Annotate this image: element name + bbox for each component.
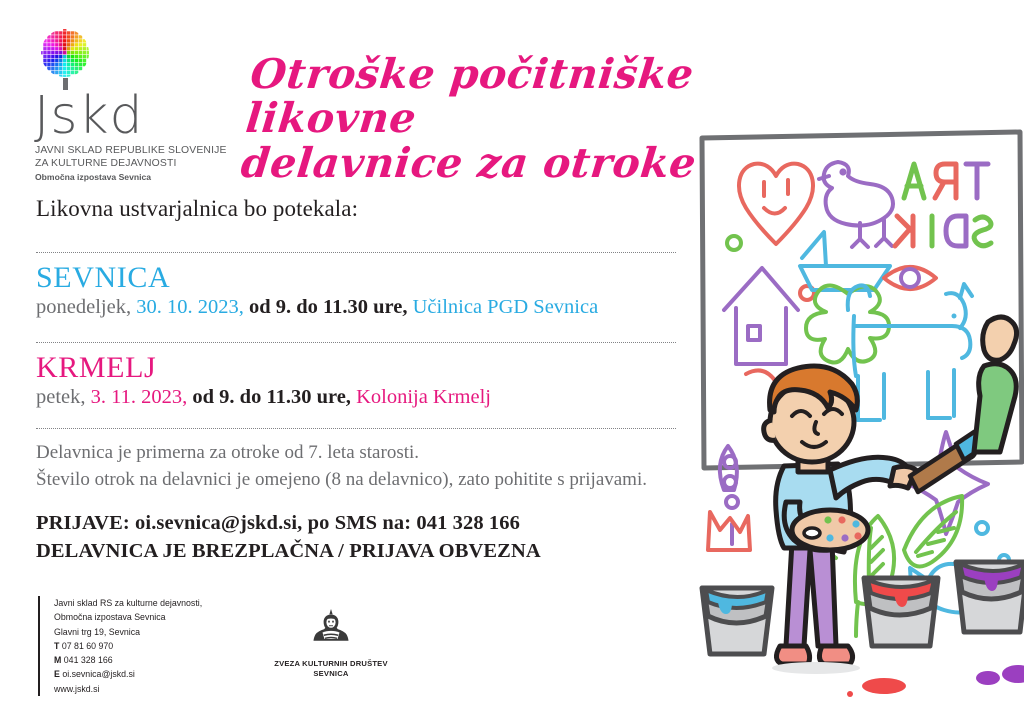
footer-unit: Območna izpostava Sevnica	[54, 610, 202, 624]
event-block-sevnica: SEVNICA ponedeljek, 30. 10. 2023, od 9. …	[36, 262, 598, 320]
poster-root: Jskd JAVNI SKLAD REPUBLIKE SLOVENIJE ZA …	[0, 0, 1024, 722]
notes-text: Delavnica je primerna za otroke od 7. le…	[36, 440, 696, 494]
event-day-sevnica: ponedeljek,	[36, 296, 131, 318]
divider-top	[36, 252, 676, 253]
footer-mobile: 041 328 166	[64, 655, 113, 665]
footer-mobile-row: M 041 328 166	[54, 653, 202, 667]
footer-phone: 07 81 60 970	[62, 641, 113, 651]
illustration-art-kids	[688, 110, 1024, 710]
logo-stem	[63, 78, 68, 90]
zkd-logo: ZVEZA KULTURNIH DRUŠTEV SEVNICA	[268, 606, 394, 680]
jskd-subtitle-line2: ZA KULTURNE DEJAVNOSTI	[35, 158, 176, 169]
cta-line-registrations: PRIJAVE: oi.sevnica@jskd.si, po SMS na: …	[36, 510, 541, 538]
footer-email[interactable]: oi.sevnica@jskd.si	[62, 669, 135, 679]
divider-middle	[36, 342, 676, 343]
intro-text: Likovna ustvarjalnica bo potekala:	[36, 196, 358, 222]
paint-bucket-purple	[956, 562, 1024, 685]
event-time-krmelj: od 9. do 11.30 ure,	[192, 386, 351, 408]
event-time-sevnica: od 9. do 11.30 ure,	[249, 296, 408, 318]
zkd-caption-line1: ZVEZA KULTURNIH DRUŠTEV	[274, 659, 387, 668]
event-details-sevnica: ponedeljek, 30. 10. 2023, od 9. do 11.30…	[36, 295, 598, 321]
note-line-1: Delavnica je primerna za otroke od 7. le…	[36, 440, 696, 467]
divider-bottom	[36, 428, 676, 429]
event-venue-sevnica: Učilnica PGD Sevnica	[413, 296, 599, 318]
cta-text: PRIJAVE: oi.sevnica@jskd.si, po SMS na: …	[36, 510, 541, 565]
zkd-caption-line2: SEVNICA	[313, 669, 348, 678]
footer-phone-label: T	[54, 641, 59, 651]
event-date-sevnica: 30. 10. 2023,	[136, 296, 244, 318]
title-line-1: Otroške počitniške likovne	[243, 50, 696, 142]
event-day-krmelj: petek,	[36, 386, 86, 408]
event-block-krmelj: KRMELJ petek, 3. 11. 2023, od 9. do 11.3…	[36, 352, 491, 410]
jskd-wordmark: Jskd	[34, 92, 233, 141]
event-city-krmelj: KRMELJ	[36, 352, 491, 384]
paint-bucket-red	[847, 578, 938, 697]
footer-address: Glavni trg 19, Sevnica	[54, 625, 202, 639]
zkd-bust-icon	[308, 639, 354, 656]
footer-org: Javni sklad RS za kulturne dejavnosti,	[54, 596, 202, 610]
paint-bucket-blue	[702, 588, 772, 654]
event-date-krmelj: 3. 11. 2023,	[91, 386, 188, 408]
footer-email-label: E	[54, 669, 60, 679]
event-venue-krmelj: Kolonija Krmelj	[356, 386, 491, 408]
footer-contact: Javni sklad RS za kulturne dejavnosti, O…	[38, 596, 202, 696]
jskd-rainbow-circle-icon	[37, 28, 95, 90]
zkd-caption: ZVEZA KULTURNIH DRUŠTEV SEVNICA	[268, 659, 394, 680]
footer-phone-row: T 07 81 60 970	[54, 639, 202, 653]
event-city-sevnica: SEVNICA	[36, 262, 598, 294]
footer-email-row: E oi.sevnica@jskd.si	[54, 667, 202, 681]
paint-buckets	[702, 562, 1024, 697]
jskd-subtitle-line1: JAVNI SKLAD REPUBLIKE SLOVENIJE	[35, 145, 227, 156]
jskd-branch: Območna izpostava Sevnica	[35, 172, 233, 182]
footer-web[interactable]: www.jskd.si	[54, 682, 202, 696]
jskd-logo: Jskd JAVNI SKLAD REPUBLIKE SLOVENIJE ZA …	[33, 28, 233, 182]
event-details-krmelj: petek, 3. 11. 2023, od 9. do 11.30 ure, …	[36, 385, 491, 411]
footer-mobile-label: M	[54, 655, 61, 665]
boy-shadow	[772, 662, 860, 674]
note-line-2: Število otrok na delavnici je omejeno (8…	[36, 467, 696, 494]
cta-line-free: DELAVNICA JE BREZPLAČNA / PRIJAVA OBVEZN…	[36, 538, 541, 566]
jskd-subtitle: JAVNI SKLAD REPUBLIKE SLOVENIJE ZA KULTU…	[35, 144, 233, 170]
